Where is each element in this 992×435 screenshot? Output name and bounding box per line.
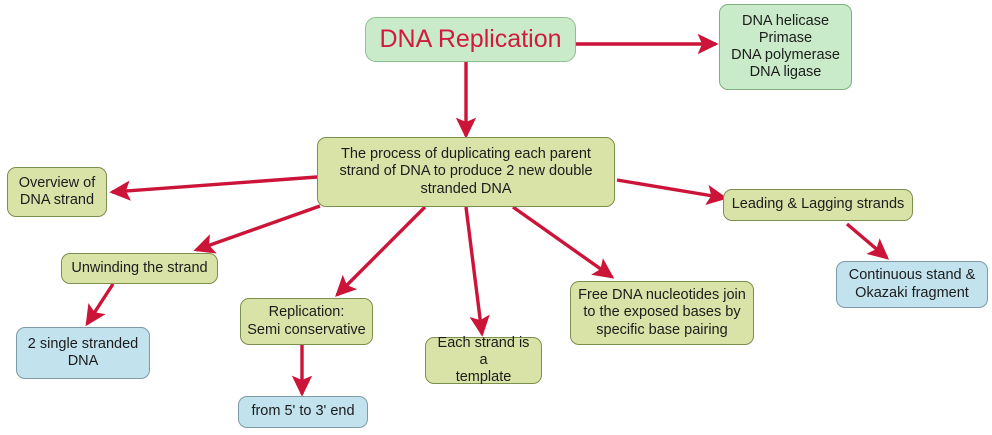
node-each-strand-template-label: Each strand is a template <box>426 335 541 386</box>
node-five-to-three-end[interactable]: from 5' to 3' end <box>238 396 368 428</box>
edge-definition-to-template <box>466 207 482 334</box>
node-unwinding[interactable]: Unwinding the strand <box>61 253 218 284</box>
node-free-dna-nucleotides[interactable]: Free DNA nucleotides join to the exposed… <box>570 281 754 345</box>
node-free-dna-nucleotides-label: Free DNA nucleotides join to the exposed… <box>572 287 752 338</box>
node-overview-label: Overview of DNA strand <box>13 175 102 209</box>
node-leading-lagging-strands[interactable]: Leading & Lagging strands <box>723 189 913 221</box>
node-enzymes-label: DNA helicase Primase DNA polymerase DNA … <box>725 13 846 81</box>
node-definition[interactable]: The process of duplicating each parent s… <box>317 137 615 207</box>
node-overview[interactable]: Overview of DNA strand <box>7 167 107 217</box>
edge-definition-to-unwinding <box>196 206 320 250</box>
node-enzymes[interactable]: DNA helicase Primase DNA polymerase DNA … <box>719 4 852 90</box>
node-leading-lagging-strands-label: Leading & Lagging strands <box>726 196 911 213</box>
edge-unwinding-to-single-stranded <box>87 284 113 324</box>
node-five-to-three-end-label: from 5' to 3' end <box>245 403 360 420</box>
node-replication-semi-conservative-label: Replication: Semi conservative <box>241 304 371 338</box>
edge-definition-to-overview <box>112 177 317 192</box>
node-title[interactable]: DNA Replication <box>365 17 576 62</box>
node-continuous-okazaki[interactable]: Continuous stand & Okazaki fragment <box>836 261 988 308</box>
edge-definition-to-replication <box>337 207 425 295</box>
node-each-strand-template[interactable]: Each strand is a template <box>425 337 542 384</box>
node-replication-semi-conservative[interactable]: Replication: Semi conservative <box>240 298 373 345</box>
node-single-stranded-dna-label: 2 single stranded DNA <box>22 336 144 370</box>
edge-definition-to-free-nucleotides <box>513 207 612 277</box>
node-title-label: DNA Replication <box>373 25 567 55</box>
edge-leading-to-continuous <box>847 224 887 258</box>
node-continuous-okazaki-label: Continuous stand & Okazaki fragment <box>843 267 982 301</box>
node-unwinding-label: Unwinding the strand <box>65 260 213 277</box>
edge-definition-to-leading-lagging <box>617 180 725 198</box>
node-definition-label: The process of duplicating each parent s… <box>318 146 614 197</box>
diagram-canvas: DNA Replication DNA helicase Primase DNA… <box>0 0 992 435</box>
node-single-stranded-dna[interactable]: 2 single stranded DNA <box>16 327 150 379</box>
